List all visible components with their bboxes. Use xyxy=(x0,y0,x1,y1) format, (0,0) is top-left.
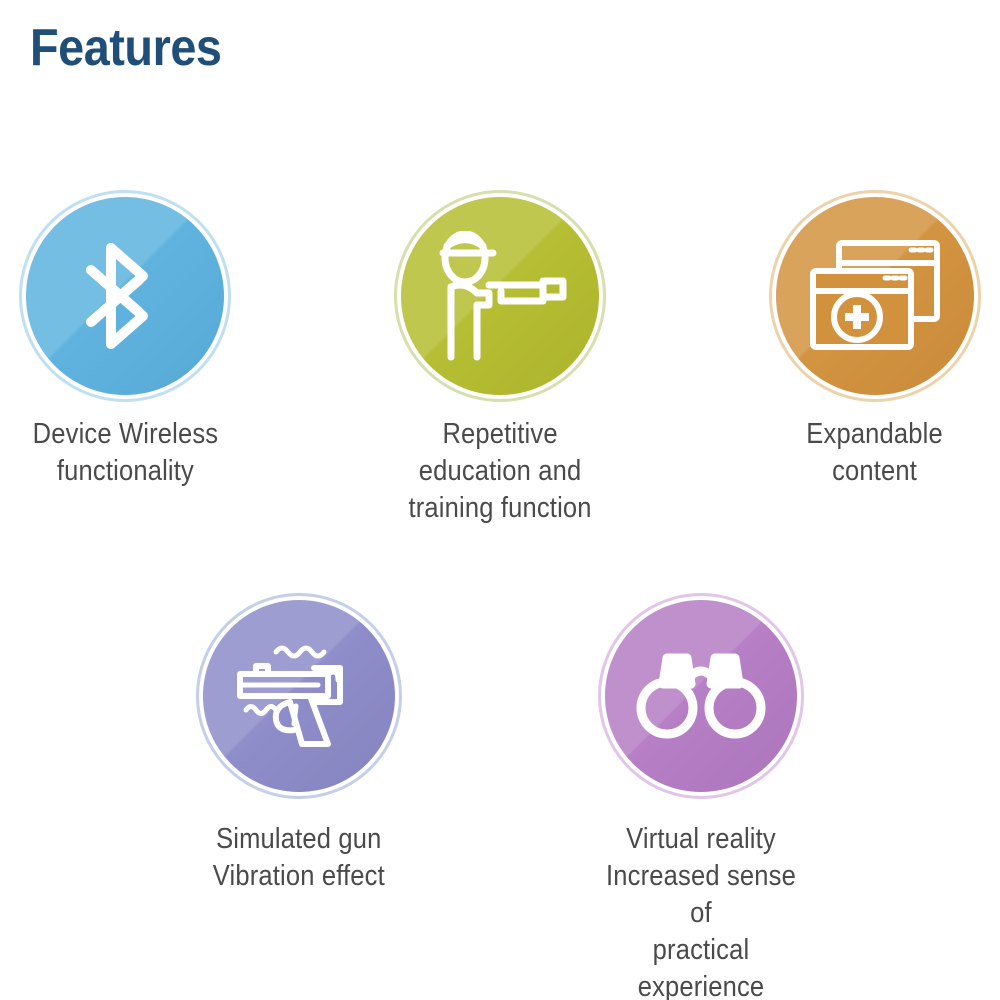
feature-card-virtual-reality[interactable]: Virtual reality Increased sense of pract… xyxy=(586,593,816,1000)
feature-card-device-wireless[interactable]: Device Wireless functionality xyxy=(10,190,240,490)
vibrating-pistol-icon xyxy=(232,640,366,752)
shooter-with-rifle-icon xyxy=(431,231,569,361)
feature-caption: Virtual reality Increased sense of pract… xyxy=(600,821,802,1000)
badge-disc xyxy=(26,197,224,395)
features-infographic: Features Device Wireless functionality xyxy=(0,0,1000,1000)
feature-card-simulated-gun-vibration[interactable]: Simulated gun Vibration effect xyxy=(184,593,414,895)
binoculars-icon xyxy=(631,648,771,744)
features-row-bottom: Simulated gun Vibration effect xyxy=(0,593,1000,1000)
feature-caption: Repetitive education and training functi… xyxy=(408,416,591,527)
feature-card-expandable-content[interactable]: Expandable content xyxy=(760,190,990,490)
badge-disc xyxy=(203,600,395,792)
badge-disc xyxy=(605,600,797,792)
bluetooth-icon xyxy=(77,236,173,356)
feature-caption: Expandable content xyxy=(807,416,944,490)
feature-icon-badge[interactable] xyxy=(19,190,231,402)
feature-card-repetitive-training[interactable]: Repetitive education and training functi… xyxy=(385,190,615,527)
feature-icon-badge[interactable] xyxy=(196,593,402,799)
feature-caption: Simulated gun Vibration effect xyxy=(213,821,385,895)
page-title: Features xyxy=(30,22,221,74)
feature-icon-badge[interactable] xyxy=(394,190,606,402)
feature-icon-badge[interactable] xyxy=(598,593,804,799)
badge-disc xyxy=(776,197,974,395)
feature-icon-badge[interactable] xyxy=(769,190,981,402)
badge-disc xyxy=(401,197,599,395)
feature-caption: Device Wireless functionality xyxy=(32,416,218,490)
stacked-windows-plus-icon xyxy=(807,237,943,355)
features-row-top: Device Wireless functionality xyxy=(0,190,1000,527)
